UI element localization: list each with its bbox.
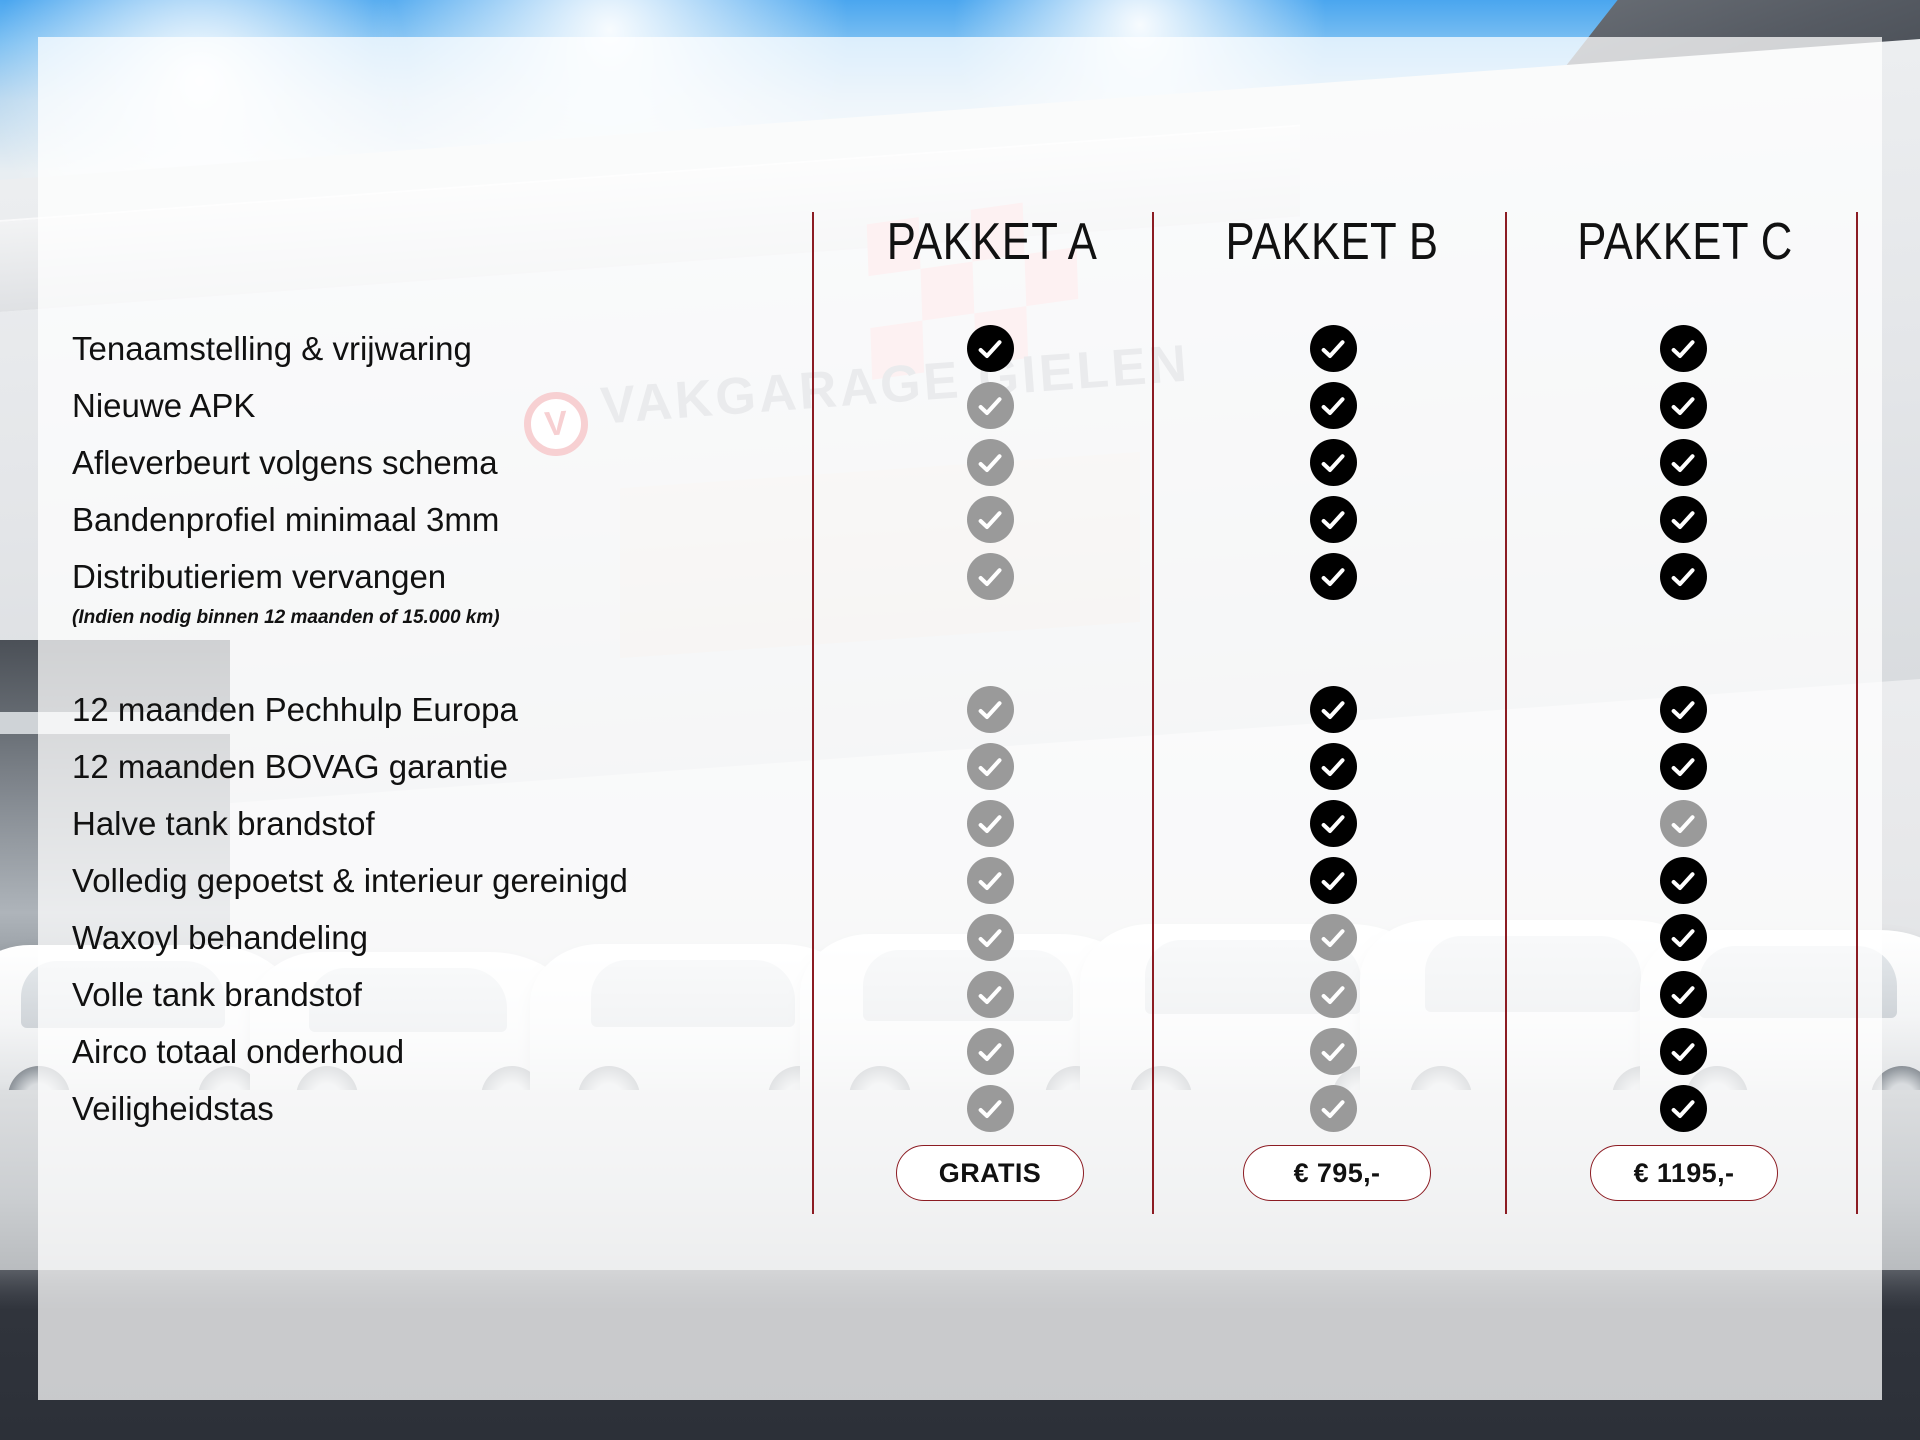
check-icon [1310,971,1357,1018]
check-icon [1310,743,1357,790]
column-divider-a-b [1152,212,1154,1214]
feature-label: Volle tank brandstof [72,976,362,1014]
check-icon [1310,553,1357,600]
check-cell [1638,548,1728,605]
feature-label: 12 maanden BOVAG garantie [72,748,508,786]
check-cell [945,909,1035,966]
price-badge-pakket-c[interactable]: € 1195,- [1590,1145,1778,1201]
check-icon [1310,496,1357,543]
column-header-pakket-c: PAKKET C [1546,212,1823,272]
check-cell [1638,320,1728,377]
feature-row: Volle tank brandstof [72,966,772,1023]
check-cell [945,738,1035,795]
check-icon [1660,553,1707,600]
check-cell [945,681,1035,738]
feature-label: Waxoyl behandeling [72,919,368,957]
check-cell [1638,1023,1728,1080]
check-icon [1310,325,1357,372]
spacer [1288,605,1378,639]
check-cell [945,377,1035,434]
check-cell [945,795,1035,852]
check-cell [1638,852,1728,909]
check-icon [1660,857,1707,904]
check-cell [1288,681,1378,738]
check-cell [1638,377,1728,434]
check-column-pakket-b [1288,320,1378,1137]
check-cell [1288,434,1378,491]
column-divider-left [812,212,814,1214]
feature-row: Veiligheidstas [72,1080,772,1137]
check-icon [967,1028,1014,1075]
feature-row: Distributieriem vervangen [72,548,772,605]
check-cell [1638,491,1728,548]
spacer [1638,605,1728,639]
check-cell [945,852,1035,909]
spacer [945,605,1035,639]
check-icon [1310,800,1357,847]
check-icon [967,439,1014,486]
feature-label-list: Tenaamstelling & vrijwaringNieuwe APKAfl… [72,320,772,1137]
feature-label: 12 maanden Pechhulp Europa [72,691,518,729]
check-icon [967,382,1014,429]
check-cell [1638,738,1728,795]
check-cell [1288,548,1378,605]
check-icon [967,496,1014,543]
check-icon [1660,800,1707,847]
check-column-pakket-c [1638,320,1728,1137]
check-icon [967,743,1014,790]
feature-label: Halve tank brandstof [72,805,375,843]
check-icon [1660,914,1707,961]
check-cell [945,1023,1035,1080]
check-icon [1310,686,1357,733]
price-badge-pakket-a[interactable]: GRATIS [896,1145,1084,1201]
check-icon [1310,1028,1357,1075]
check-cell [1638,966,1728,1023]
spacer [945,639,1035,681]
check-icon [967,914,1014,961]
check-icon [1660,1028,1707,1075]
check-cell [945,320,1035,377]
feature-row: Tenaamstelling & vrijwaring [72,320,772,377]
check-cell [1288,320,1378,377]
check-cell [945,434,1035,491]
check-icon [967,325,1014,372]
check-icon [967,971,1014,1018]
check-column-pakket-a [945,320,1035,1137]
feature-row: Nieuwe APK [72,377,772,434]
check-icon [1660,686,1707,733]
check-icon [967,1085,1014,1132]
check-icon [1310,857,1357,904]
check-cell [1288,795,1378,852]
feature-row: 12 maanden Pechhulp Europa [72,681,772,738]
feature-label: Nieuwe APK [72,387,255,425]
feature-label: Volledig gepoetst & interieur gereinigd [72,862,628,900]
feature-label: Bandenprofiel minimaal 3mm [72,501,499,539]
check-cell [1288,852,1378,909]
column-divider-right [1856,212,1858,1214]
check-icon [1310,382,1357,429]
package-comparison-table: PAKKET A PAKKET B PAKKET C Tenaamstellin… [0,0,1920,1440]
check-icon [1310,914,1357,961]
check-icon [967,553,1014,600]
check-cell [945,1080,1035,1137]
feature-label: Afleverbeurt volgens schema [72,444,498,482]
check-icon [1660,1085,1707,1132]
feature-row: Waxoyl behandeling [72,909,772,966]
feature-row: Bandenprofiel minimaal 3mm [72,491,772,548]
feature-row: Volledig gepoetst & interieur gereinigd [72,852,772,909]
feature-row: Airco totaal onderhoud [72,1023,772,1080]
column-header-pakket-a: PAKKET A [853,212,1130,272]
spacer [1638,639,1728,681]
check-cell [945,548,1035,605]
check-cell [1288,1080,1378,1137]
check-icon [1660,325,1707,372]
check-icon [967,800,1014,847]
check-cell [1638,795,1728,852]
column-divider-b-c [1505,212,1507,1214]
feature-row: Halve tank brandstof [72,795,772,852]
check-cell [1638,434,1728,491]
feature-note: (Indien nodig binnen 12 maanden of 15.00… [72,601,772,635]
check-cell [1638,681,1728,738]
group-separator [72,639,772,681]
column-header-pakket-b: PAKKET B [1193,212,1470,272]
check-cell [1638,1080,1728,1137]
feature-label: Distributieriem vervangen [72,558,446,596]
check-icon [967,857,1014,904]
check-cell [945,491,1035,548]
check-cell [1288,491,1378,548]
feature-label: Airco totaal onderhoud [72,1033,404,1071]
check-cell [1288,909,1378,966]
feature-row: 12 maanden BOVAG garantie [72,738,772,795]
check-icon [1310,1085,1357,1132]
check-icon [1660,971,1707,1018]
check-icon [1660,439,1707,486]
check-icon [1660,743,1707,790]
spacer [1288,639,1378,681]
feature-label: Veiligheidstas [72,1090,274,1128]
check-cell [1288,738,1378,795]
check-icon [1310,439,1357,486]
check-icon [967,686,1014,733]
check-icon [1660,496,1707,543]
check-cell [1638,909,1728,966]
check-cell [1288,1023,1378,1080]
check-icon [1660,382,1707,429]
check-cell [1288,966,1378,1023]
feature-label: Tenaamstelling & vrijwaring [72,330,472,368]
price-badge-pakket-b[interactable]: € 795,- [1243,1145,1431,1201]
feature-row: Afleverbeurt volgens schema [72,434,772,491]
check-cell [945,966,1035,1023]
check-cell [1288,377,1378,434]
